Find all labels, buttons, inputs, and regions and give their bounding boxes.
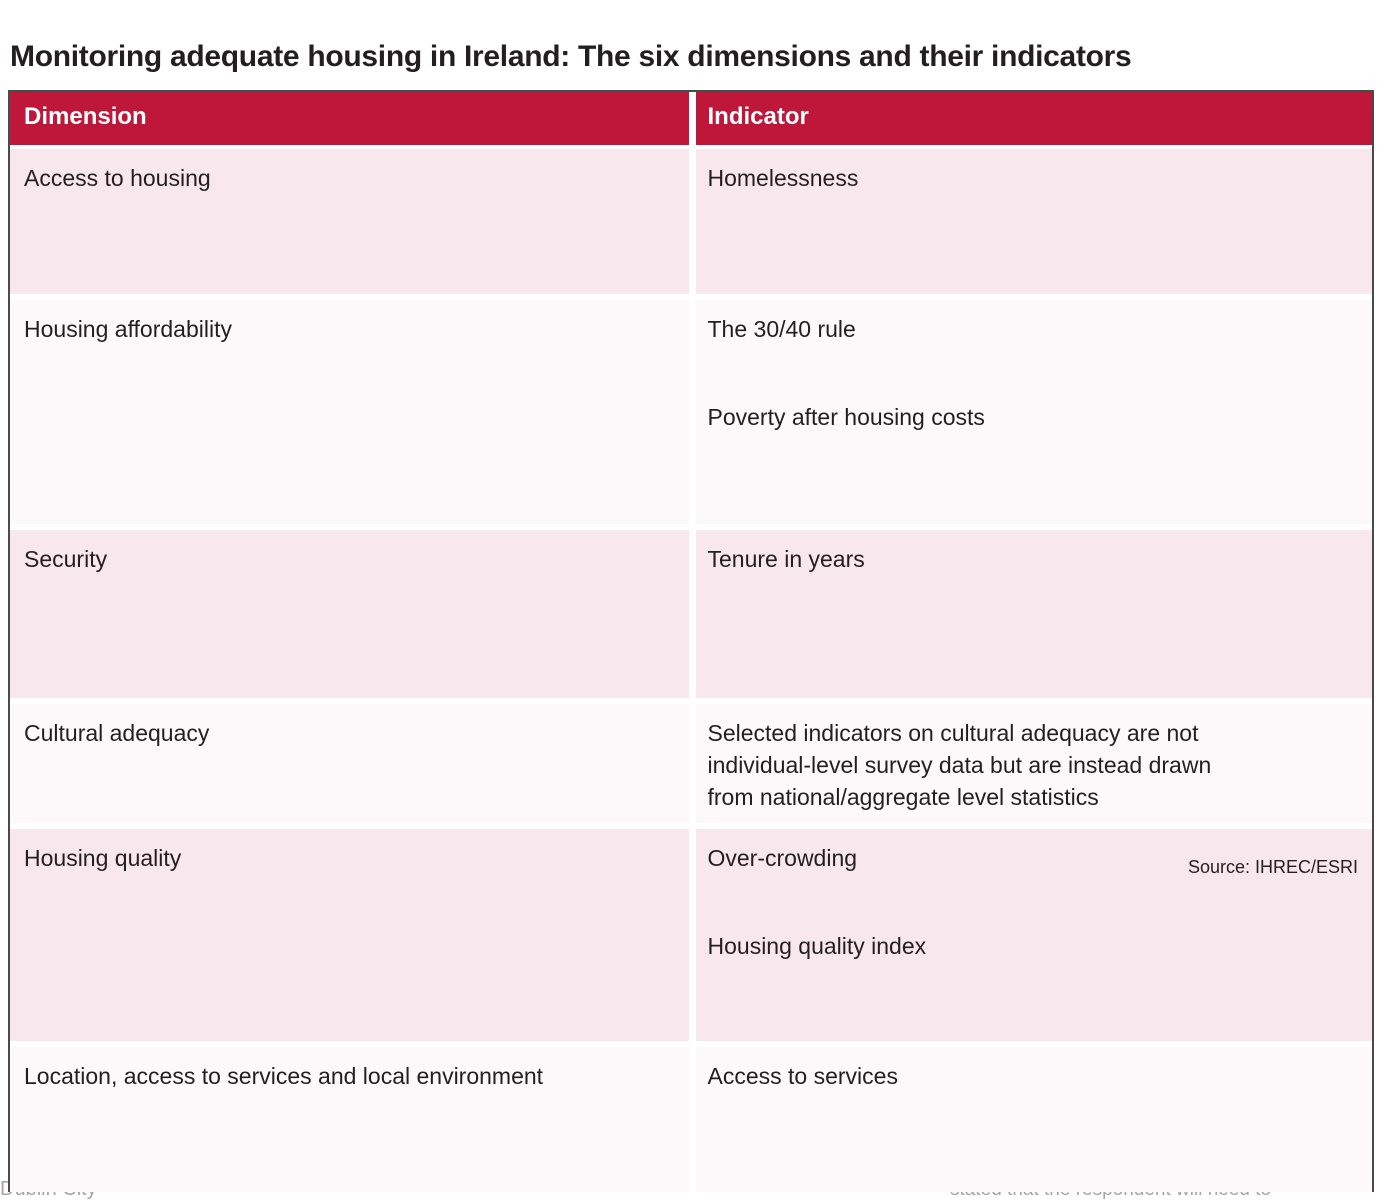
page-title: Monitoring adequate housing in Ireland: … [10,38,1374,76]
cell-dimension: Access to housing [10,147,692,297]
cell-dimension: Cultural adequacy [10,701,692,826]
indicator-line: from national/aggregate level statistics [708,781,1355,813]
table-body: Access to housing Homelessness Housing a… [10,147,1372,1192]
indicator-line: The 30/40 rule [708,313,1355,345]
table-grid: Dimension Indicator Access to housing Ho… [10,92,1372,1192]
cell-dimension: Housing affordability [10,297,692,527]
table-row: Housing quality Over-crowding Housing qu… [10,826,1372,1044]
cell-dimension: Location, access to services and local e… [10,1044,692,1192]
cell-indicator: Access to services [692,1044,1372,1192]
cell-indicator: Homelessness [692,147,1372,297]
cell-indicator: Tenure in years [692,527,1372,701]
indicator-line: Housing quality index [708,930,1355,962]
indicator-line: Poverty after housing costs [708,401,1355,433]
column-header-indicator: Indicator [692,92,1372,147]
table-row: Housing affordability The 30/40 rule Pov… [10,297,1372,527]
indicator-line: Access to services [708,1060,1355,1092]
table-row: Location, access to services and local e… [10,1044,1372,1192]
indicator-paragraph: Selected indicators on cultural adequacy… [708,717,1355,813]
column-header-dimension: Dimension [10,92,692,147]
indicator-line: Tenure in years [708,543,1355,575]
cell-dimension: Housing quality [10,826,692,1044]
source-label: Source: IHREC/ESRI [1188,851,1358,883]
indicator-line: Selected indicators on cultural adequacy… [708,717,1355,749]
table-row: Cultural adequacy Selected indicators on… [10,701,1372,826]
indicator-line: individual-level survey data but are ins… [708,749,1355,781]
table-header-row: Dimension Indicator [10,92,1372,147]
cell-indicator: Selected indicators on cultural adequacy… [692,701,1372,826]
cell-dimension: Security [10,527,692,701]
dimensions-indicators-table: Dimension Indicator Access to housing Ho… [8,90,1374,1192]
cell-indicator: The 30/40 rule Poverty after housing cos… [692,297,1372,527]
table-row: Access to housing Homelessness [10,147,1372,297]
page-root: A single mother and a lone defender Dubl… [0,0,1384,1192]
indicator-line: Homelessness [708,162,1355,194]
indicator-spacer [708,345,1355,401]
table-row: Security Tenure in years [10,527,1372,701]
cell-indicator: Over-crowding Housing quality index Sour… [692,826,1372,1044]
table-header: Dimension Indicator [10,92,1372,147]
